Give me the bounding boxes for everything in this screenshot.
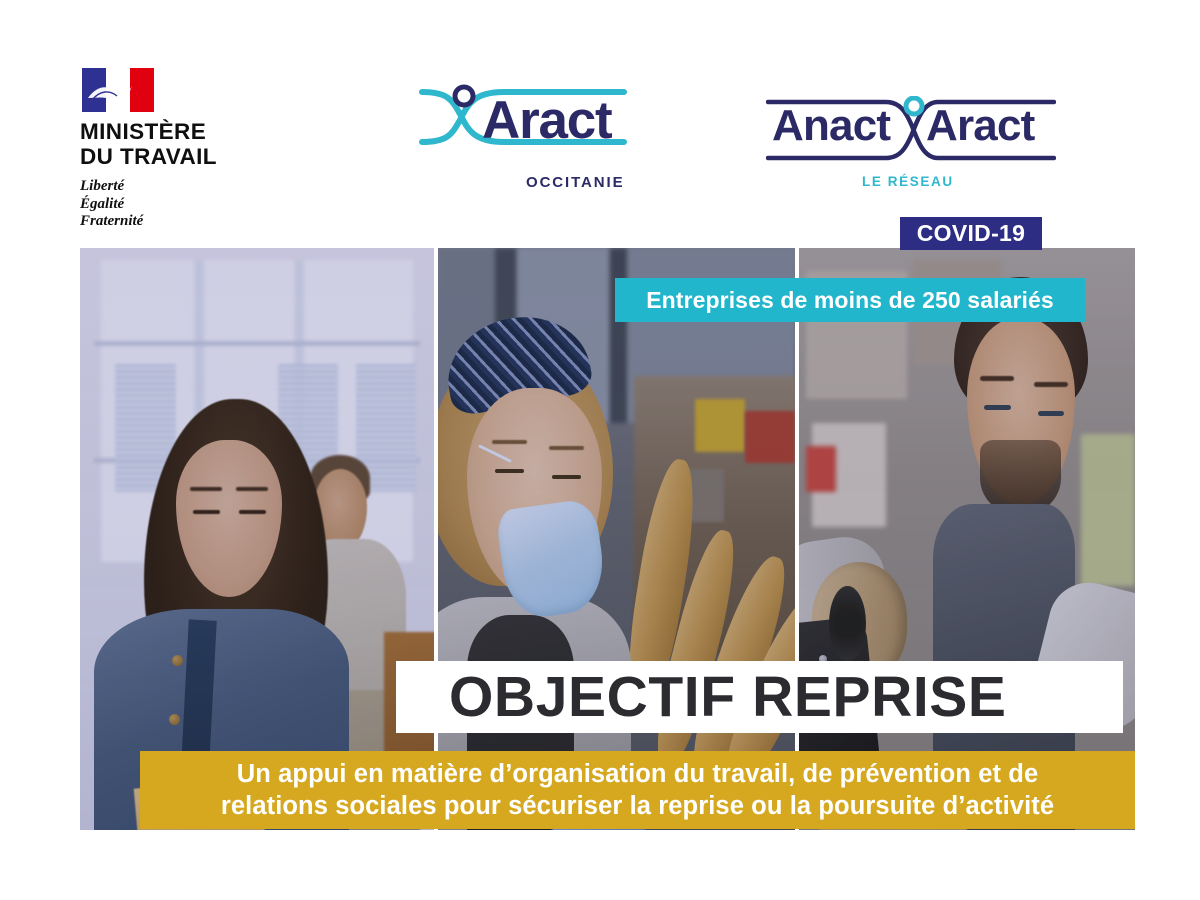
covid-19-badge: COVID-19	[900, 217, 1042, 250]
photo-3-tint-overlay	[799, 248, 1135, 830]
subtitle-text: Un appui en matière d’organisation du tr…	[221, 758, 1054, 822]
page-title: OBJECTIF REPRISE	[449, 669, 1007, 726]
motto-liberte: Liberté	[80, 178, 310, 196]
photo-2-tint-overlay	[438, 248, 795, 830]
motto-fraternite: Fraternité	[80, 213, 310, 231]
anact-wordmark: Anact	[772, 104, 890, 148]
ministry-logo: MINISTÈRE DU TRAVAIL Liberté Égalité Fra…	[80, 68, 310, 231]
ministry-motto: Liberté Égalité Fraternité	[80, 178, 310, 231]
logo-row: MINISTÈRE DU TRAVAIL Liberté Égalité Fra…	[0, 0, 1200, 230]
ministry-name-line1: MINISTÈRE	[80, 119, 310, 144]
subtitle-line-1: Un appui en matière d’organisation du tr…	[221, 758, 1054, 790]
target-audience-label: Entreprises de moins de 250 salariés	[646, 287, 1054, 314]
photo-bakery-worker-face-mask	[438, 248, 795, 830]
main-title-band: OBJECTIF REPRISE	[396, 661, 1123, 733]
ministry-name: MINISTÈRE DU TRAVAIL	[80, 119, 310, 169]
subtitle-line-2: relations sociales pour sécuriser la rep…	[221, 790, 1054, 822]
aract-wordmark: Aract	[482, 94, 612, 147]
network-tagline: LE RÉSEAU	[862, 174, 954, 189]
photo-1-tint-overlay	[80, 248, 434, 830]
aract-network-wordmark: Aract	[926, 104, 1035, 148]
covid-19-badge-label: COVID-19	[917, 220, 1025, 247]
photo-warehouse-worker-tape-dispenser	[799, 248, 1135, 830]
aract-region-label: OCCITANIE	[526, 174, 625, 191]
aract-occitanie-logo: Aract OCCITANIE	[418, 84, 648, 199]
photo-strip	[80, 248, 1135, 830]
subtitle-band: Un appui en matière d’organisation du tr…	[140, 751, 1135, 829]
photo-office-woman-denim-jacket	[80, 248, 434, 830]
anact-aract-network-logo: Anact Aract LE RÉSEAU	[766, 96, 1066, 196]
target-audience-banner: Entreprises de moins de 250 salariés	[615, 278, 1085, 322]
ministry-name-line2: DU TRAVAIL	[80, 144, 310, 169]
french-republic-flag-icon	[82, 68, 154, 112]
poster-canvas: MINISTÈRE DU TRAVAIL Liberté Égalité Fra…	[0, 0, 1200, 900]
motto-egalite: Égalité	[80, 196, 310, 214]
